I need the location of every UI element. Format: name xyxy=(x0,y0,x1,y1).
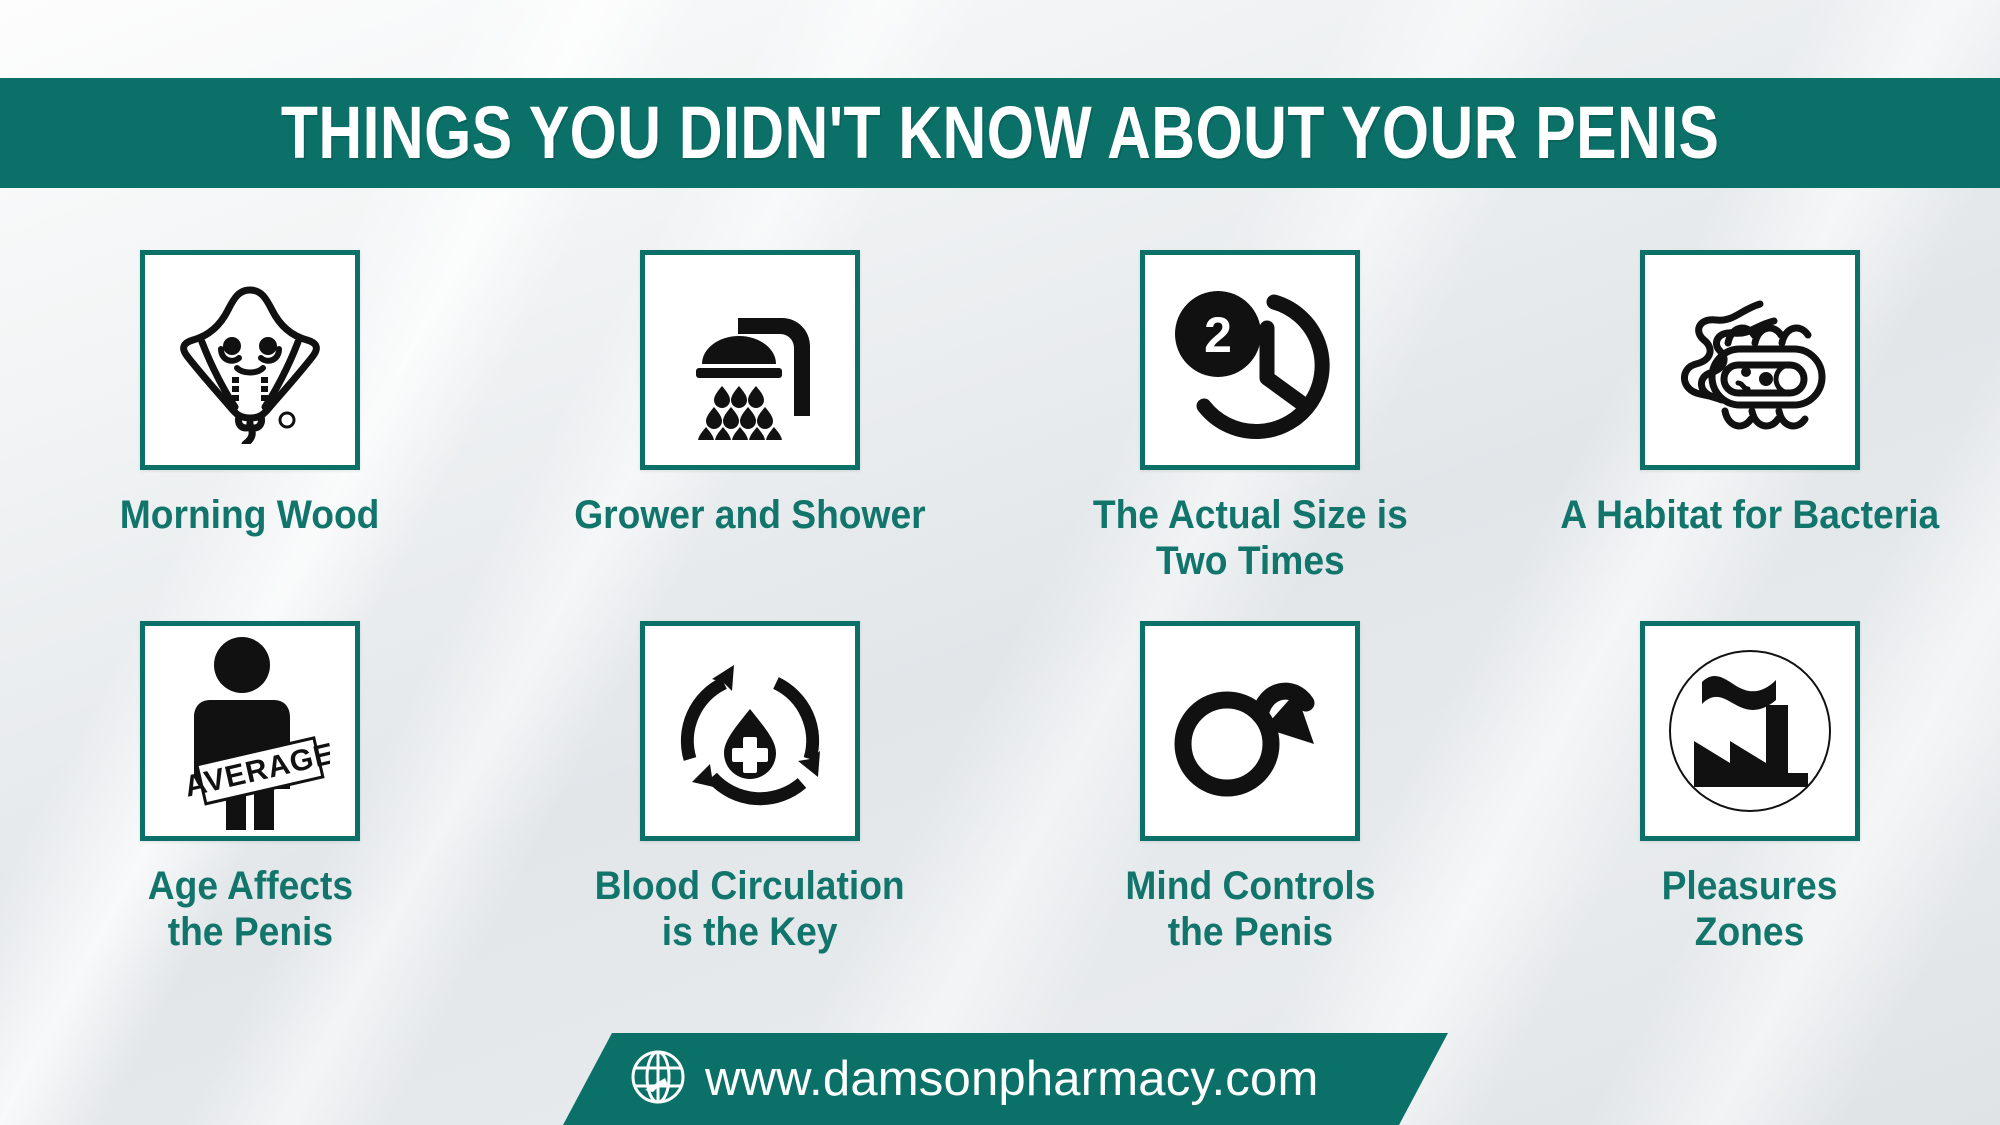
header-banner: THINGS YOU DIDN'T KNOW ABOUT YOUR PENIS xyxy=(0,78,2000,188)
fact-label: Morning Wood xyxy=(120,492,380,538)
icon-tile: 2 xyxy=(1140,250,1360,470)
icon-tile xyxy=(640,250,860,470)
globe-icon xyxy=(631,1050,685,1109)
fact-card-morning-wood[interactable]: Morning Wood xyxy=(0,250,500,585)
fact-card-grower-and-shower[interactable]: Grower and Shower xyxy=(500,250,1000,585)
male-symbol-icon xyxy=(1165,661,1335,801)
fact-card-age-affects[interactable]: AVERAGE Age Affects the Penis xyxy=(0,621,500,956)
website-url[interactable]: www.damsonpharmacy.com xyxy=(705,1051,1318,1107)
fact-label: Blood Circulation is the Key xyxy=(595,863,905,956)
icon-tile: AVERAGE xyxy=(140,621,360,841)
facts-grid: Morning Wood xyxy=(0,250,2000,956)
blood-circulation-icon xyxy=(666,647,834,815)
icon-tile xyxy=(1640,250,1860,470)
fact-label: A Habitat for Bacteria xyxy=(1561,492,1940,538)
icon-tile xyxy=(140,250,360,470)
person-average-sign-icon: AVERAGE xyxy=(170,632,330,830)
page-title: THINGS YOU DIDN'T KNOW ABOUT YOUR PENIS xyxy=(281,96,1720,170)
fact-card-blood-circulation[interactable]: Blood Circulation is the Key xyxy=(500,621,1000,956)
shower-icon xyxy=(670,280,830,440)
footer-banner: www.damsonpharmacy.com xyxy=(563,1033,1448,1125)
fact-card-actual-size[interactable]: 2 The Actual Size is Two Times xyxy=(1000,250,1500,585)
fact-label: The Actual Size is Two Times xyxy=(1093,492,1408,585)
fact-label: Age Affects the Penis xyxy=(147,863,352,956)
fact-card-habitat-bacteria[interactable]: A Habitat for Bacteria xyxy=(1500,250,2000,585)
footer: www.damsonpharmacy.com xyxy=(0,1033,2000,1125)
infographic-poster: THINGS YOU DIDN'T KNOW ABOUT YOUR PENIS xyxy=(0,0,2000,1125)
icon-tile xyxy=(640,621,860,841)
clock-badge-number: 2 xyxy=(1204,307,1232,363)
stingray-icon xyxy=(175,276,325,444)
clock-two-icon: 2 xyxy=(1166,276,1334,444)
factory-icon xyxy=(1664,645,1836,817)
fact-label: Grower and Shower xyxy=(574,492,925,538)
fact-label: Mind Controls the Penis xyxy=(1125,863,1375,956)
fact-card-pleasure-zones[interactable]: Pleasures Zones xyxy=(1500,621,2000,956)
fact-card-mind-controls[interactable]: Mind Controls the Penis xyxy=(1000,621,1500,956)
fact-label: Pleasures Zones xyxy=(1662,863,1838,956)
icon-tile xyxy=(1140,621,1360,841)
bacteria-icon xyxy=(1665,281,1835,439)
icon-tile xyxy=(1640,621,1860,841)
